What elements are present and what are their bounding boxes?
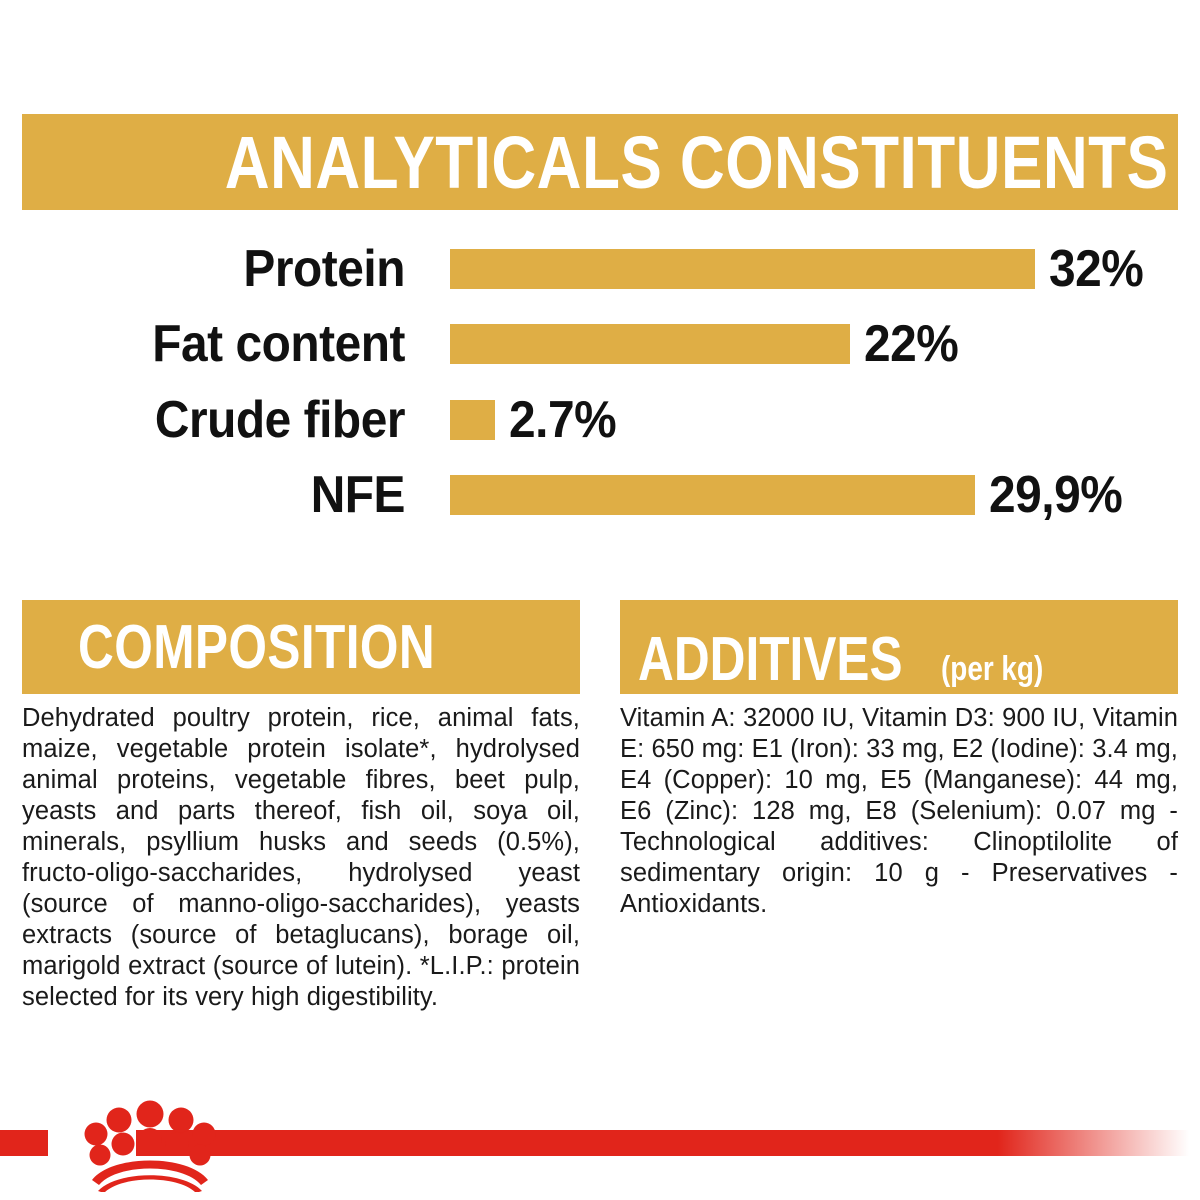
bar-wrap-protein: 32% bbox=[450, 243, 1200, 295]
bar-value-nfe: 29,9% bbox=[989, 469, 1122, 521]
bar-wrap-fat-content: 22% bbox=[450, 318, 1200, 370]
additives-banner: ADDITIVES (per kg) bbox=[620, 600, 1178, 694]
bar-fat-content bbox=[450, 324, 850, 364]
analyticals-bar-chart: Protein 32% Fat content 22% Crude fiber … bbox=[0, 238, 1200, 548]
chart-row-protein: Protein 32% bbox=[0, 238, 1200, 300]
footer-red-bar-left bbox=[0, 1130, 48, 1156]
bar-value-protein: 32% bbox=[1049, 243, 1143, 295]
bar-value-fat-content: 22% bbox=[864, 318, 958, 370]
footer bbox=[0, 1100, 1200, 1200]
composition-body-text: Dehydrated poultry protein, rice, animal… bbox=[22, 703, 580, 1013]
additives-heading-unit: (per kg) bbox=[941, 650, 1043, 689]
chart-row-fat-content: Fat content 22% bbox=[0, 313, 1200, 375]
analyticals-constituents-banner: ANALYTICALS CONSTITUENTS bbox=[22, 114, 1178, 210]
page-title: ANALYTICALS CONSTITUENTS bbox=[224, 120, 1168, 205]
bar-wrap-nfe: 29,9% bbox=[450, 469, 1200, 521]
bar-nfe bbox=[450, 475, 975, 515]
royal-canin-crown-logo bbox=[84, 1092, 216, 1192]
bar-label-nfe: NFE bbox=[32, 469, 405, 521]
bar-value-crude-fiber: 2.7% bbox=[509, 394, 616, 446]
additives-body-text: Vitamin A: 32000 IU, Vitamin D3: 900 IU,… bbox=[620, 703, 1178, 920]
footer-red-bar-right bbox=[136, 1130, 1200, 1156]
chart-row-crude-fiber: Crude fiber 2.7% bbox=[0, 389, 1200, 451]
bar-crude-fiber bbox=[450, 400, 495, 440]
bar-wrap-crude-fiber: 2.7% bbox=[450, 394, 1200, 446]
bar-label-crude-fiber: Crude fiber bbox=[32, 394, 405, 446]
composition-banner: COMPOSITION bbox=[22, 600, 580, 694]
bar-protein bbox=[450, 249, 1035, 289]
additives-heading: ADDITIVES bbox=[638, 624, 903, 695]
composition-heading: COMPOSITION bbox=[78, 612, 435, 683]
bar-label-protein: Protein bbox=[32, 243, 405, 295]
chart-row-nfe: NFE 29,9% bbox=[0, 464, 1200, 526]
bar-label-fat-content: Fat content bbox=[32, 318, 405, 370]
